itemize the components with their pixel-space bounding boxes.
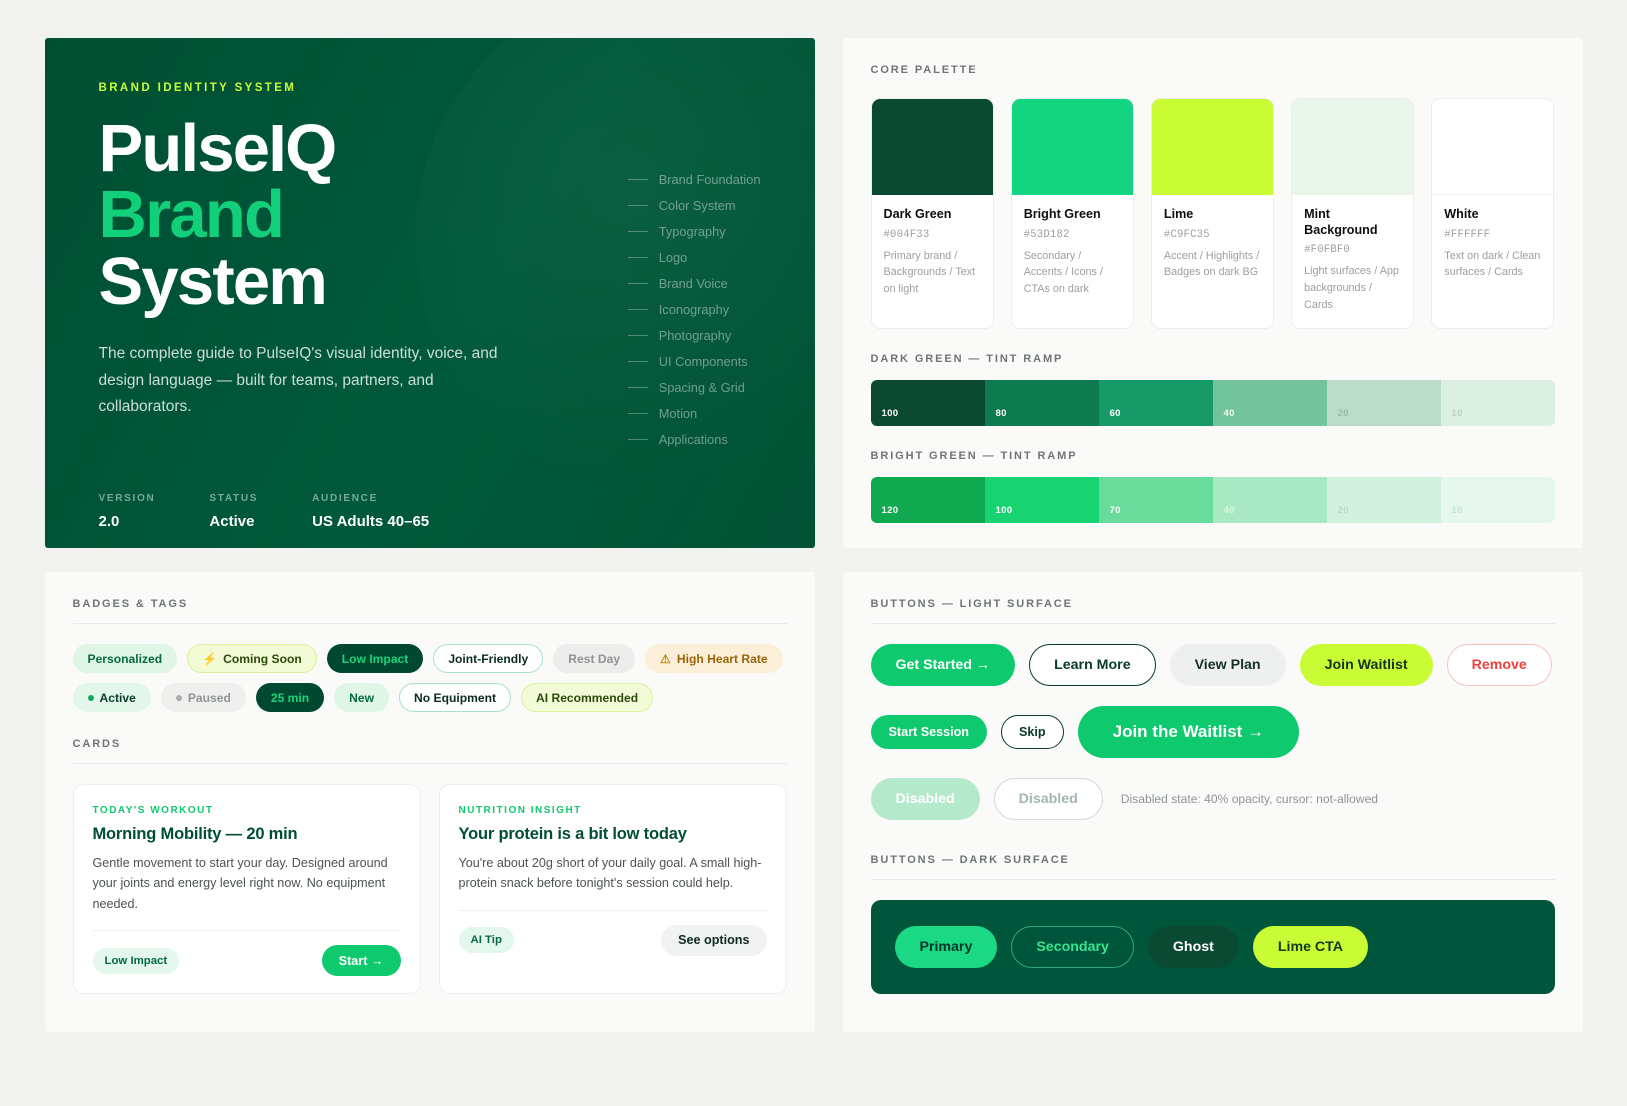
swatch-body: Lime#C9FC35Accent / Highlights / Badges … bbox=[1152, 195, 1273, 295]
color-system-panel: CORE PALETTE Dark Green#004F33Primary br… bbox=[843, 38, 1583, 548]
swatch-hex: #C9FC35 bbox=[1164, 229, 1261, 241]
toc-dash-icon bbox=[628, 335, 648, 336]
status-dot-icon bbox=[176, 695, 182, 701]
table-of-contents: Brand FoundationColor SystemTypographyLo… bbox=[628, 166, 761, 452]
badge-rest-day[interactable]: Rest Day bbox=[553, 644, 635, 673]
card-footer: AI TipSee options bbox=[459, 925, 767, 956]
card-eyebrow: TODAY'S WORKOUT bbox=[93, 805, 401, 816]
meta-audience-label: AUDIENCE bbox=[312, 493, 429, 504]
badge-label: New bbox=[349, 691, 374, 705]
tint-step-label: 80 bbox=[996, 408, 1007, 419]
card-footer: Low ImpactStart → bbox=[93, 945, 401, 976]
buttons-light-divider bbox=[871, 623, 1555, 624]
card-body: Gentle movement to start your day. Desig… bbox=[93, 853, 401, 914]
meta-status-value: Active bbox=[209, 513, 258, 530]
swatch-body: Dark Green#004F33Primary brand / Backgro… bbox=[872, 195, 993, 312]
ui-card-0: TODAY'S WORKOUTMorning Mobility — 20 min… bbox=[73, 784, 421, 994]
bolt-icon: ⚡ bbox=[202, 652, 217, 666]
toc-item-label: Iconography bbox=[659, 302, 729, 317]
badge-paused[interactable]: Paused bbox=[161, 683, 246, 712]
card-grid: TODAY'S WORKOUTMorning Mobility — 20 min… bbox=[73, 784, 787, 994]
toc-dash-icon bbox=[628, 309, 648, 310]
badge-label: AI Recommended bbox=[536, 691, 638, 705]
badge-25-min[interactable]: 25 min bbox=[256, 683, 324, 712]
badge-label: Active bbox=[100, 691, 136, 705]
tint-step-100[interactable]: 100 bbox=[871, 380, 985, 426]
badge-label: No Equipment bbox=[414, 691, 496, 705]
swatch-usage: Light surfaces / App backgrounds / Cards bbox=[1304, 263, 1401, 313]
button-get-started[interactable]: Get Started → bbox=[871, 644, 1016, 686]
button-secondary[interactable]: Secondary bbox=[1011, 926, 1134, 968]
color-swatch-dark-green[interactable]: Dark Green#004F33Primary brand / Backgro… bbox=[871, 98, 994, 329]
toc-item-iconography[interactable]: Iconography bbox=[628, 296, 761, 322]
toc-item-ui-components[interactable]: UI Components bbox=[628, 348, 761, 374]
toc-item-label: Photography bbox=[659, 328, 732, 343]
color-swatch-bright-green[interactable]: Bright Green#53D182Secondary / Accents /… bbox=[1011, 98, 1134, 329]
button-view-plan[interactable]: View Plan bbox=[1170, 644, 1286, 686]
toc-item-label: Brand Foundation bbox=[659, 172, 761, 187]
badge-ai-recommended[interactable]: AI Recommended bbox=[521, 683, 653, 712]
toc-item-motion[interactable]: Motion bbox=[628, 400, 761, 426]
tint-ramp-label: DARK GREEN — TINT RAMP bbox=[871, 353, 1555, 365]
badge-label: Rest Day bbox=[568, 652, 620, 666]
meta-version-label: VERSION bbox=[99, 493, 156, 504]
button-disabled: Disabled bbox=[871, 778, 980, 820]
toc-item-label: Motion bbox=[659, 406, 697, 421]
button-disabled: Disabled bbox=[994, 778, 1103, 820]
swatch-usage: Primary brand / Backgrounds / Text on li… bbox=[884, 248, 981, 298]
buttons-row-disabled: DisabledDisabled Disabled state: 40% opa… bbox=[871, 778, 1555, 820]
button-learn-more[interactable]: Learn More bbox=[1029, 644, 1155, 686]
button-join-waitlist[interactable]: Join Waitlist bbox=[1300, 644, 1433, 686]
card-cta-button[interactable]: See options bbox=[661, 925, 766, 956]
toc-dash-icon bbox=[628, 257, 648, 258]
swatch-chip bbox=[872, 99, 993, 195]
tint-step-label: 40 bbox=[1224, 408, 1235, 419]
hero-meta: VERSION 2.0 STATUS Active AUDIENCE US Ad… bbox=[99, 493, 763, 530]
buttons-row-sizes: Start SessionSkipJoin the Waitlist → bbox=[871, 706, 1555, 758]
swatch-chip bbox=[1012, 99, 1133, 195]
hero-subtitle: The complete guide to PulseIQ's visual i… bbox=[99, 341, 509, 421]
tint-step-10[interactable]: 10 bbox=[1441, 380, 1555, 426]
tint-step-10[interactable]: 10 bbox=[1441, 477, 1555, 523]
meta-status-label: STATUS bbox=[209, 493, 258, 504]
toc-item-label: Brand Voice bbox=[659, 276, 728, 291]
swatch-body: Bright Green#53D182Secondary / Accents /… bbox=[1012, 195, 1133, 312]
swatch-body: White#FFFFFFText on dark / Clean surface… bbox=[1432, 195, 1553, 295]
badge-high-heart-rate[interactable]: ⚠High Heart Rate bbox=[645, 644, 783, 673]
badge-active[interactable]: Active bbox=[73, 683, 151, 712]
card-title: Your protein is a bit low today bbox=[459, 825, 767, 844]
meta-status: STATUS Active bbox=[209, 493, 258, 530]
buttons-dark-divider bbox=[871, 879, 1555, 880]
tint-step-60[interactable]: 60 bbox=[1099, 380, 1213, 426]
buttons-row-primary: Get Started →Learn MoreView PlanJoin Wai… bbox=[871, 644, 1555, 686]
badges-divider bbox=[73, 623, 787, 624]
badge-list: Personalized⚡Coming SoonLow ImpactJoint-… bbox=[73, 644, 787, 712]
toc-item-brand-foundation[interactable]: Brand Foundation bbox=[628, 166, 761, 192]
button-start-session[interactable]: Start Session bbox=[871, 715, 988, 749]
button-skip[interactable]: Skip bbox=[1001, 715, 1064, 749]
toc-item-color-system[interactable]: Color System bbox=[628, 192, 761, 218]
swatch-name: White bbox=[1444, 207, 1541, 223]
color-swatch-lime[interactable]: Lime#C9FC35Accent / Highlights / Badges … bbox=[1151, 98, 1274, 329]
disabled-note: Disabled state: 40% opacity, cursor: not… bbox=[1121, 792, 1378, 806]
swatch-body: Mint Background#F0FBF0Light surfaces / A… bbox=[1292, 195, 1413, 328]
meta-audience: AUDIENCE US Adults 40–65 bbox=[312, 493, 429, 530]
button-ghost[interactable]: Ghost bbox=[1148, 926, 1239, 968]
badge-label: Paused bbox=[188, 691, 231, 705]
button-lime-cta[interactable]: Lime CTA bbox=[1253, 926, 1368, 968]
button-join-the-waitlist[interactable]: Join the Waitlist → bbox=[1078, 706, 1299, 758]
color-swatch-mint-background[interactable]: Mint Background#F0FBF0Light surfaces / A… bbox=[1291, 98, 1414, 329]
ui-card-1: NUTRITION INSIGHTYour protein is a bit l… bbox=[439, 784, 787, 994]
buttons-dark-label: BUTTONS — DARK SURFACE bbox=[871, 854, 1555, 866]
meta-version-value: 2.0 bbox=[99, 513, 156, 530]
tint-step-80[interactable]: 80 bbox=[985, 380, 1099, 426]
toc-item-label: Typography bbox=[659, 224, 726, 239]
tint-step-20[interactable]: 20 bbox=[1327, 477, 1441, 523]
toc-dash-icon bbox=[628, 231, 648, 232]
toc-item-brand-voice[interactable]: Brand Voice bbox=[628, 270, 761, 296]
swatch-hex: #F0FBF0 bbox=[1304, 244, 1401, 256]
toc-dash-icon bbox=[628, 205, 648, 206]
badge-no-equipment[interactable]: No Equipment bbox=[399, 683, 511, 712]
toc-dash-icon bbox=[628, 361, 648, 362]
toc-item-label: UI Components bbox=[659, 354, 748, 369]
tint-step-70[interactable]: 70 bbox=[1099, 477, 1213, 523]
toc-dash-icon bbox=[628, 413, 648, 414]
tint-step-40[interactable]: 40 bbox=[1213, 477, 1327, 523]
tint-step-label: 10 bbox=[1452, 505, 1463, 516]
toc-dash-icon bbox=[628, 179, 648, 180]
badge-label: Joint-Friendly bbox=[448, 652, 528, 666]
card-divider bbox=[459, 910, 767, 911]
buttons-panel: BUTTONS — LIGHT SURFACE Get Started →Lea… bbox=[843, 572, 1583, 1032]
hero-eyebrow: BRAND IDENTITY SYSTEM bbox=[99, 82, 763, 94]
toc-item-spacing-grid[interactable]: Spacing & Grid bbox=[628, 374, 761, 400]
badge-new[interactable]: New bbox=[334, 683, 389, 712]
cards-divider bbox=[73, 763, 787, 764]
tint-step-label: 20 bbox=[1338, 408, 1349, 419]
swatch-hex: #004F33 bbox=[884, 229, 981, 241]
toc-item-label: Logo bbox=[659, 250, 687, 265]
brand-system-page: BRAND IDENTITY SYSTEM PulseIQ Brand Syst… bbox=[0, 0, 1627, 1106]
dark-surface-area: PrimarySecondaryGhostLime CTA bbox=[871, 900, 1555, 994]
swatch-name: Dark Green bbox=[884, 207, 981, 223]
badge-coming-soon[interactable]: ⚡Coming Soon bbox=[187, 644, 317, 673]
button-primary[interactable]: Primary bbox=[895, 926, 998, 968]
badge-label: Personalized bbox=[88, 652, 163, 666]
card-body: You're about 20g short of your daily goa… bbox=[459, 853, 767, 894]
swatch-chip bbox=[1432, 99, 1553, 195]
warning-icon: ⚠ bbox=[660, 652, 671, 666]
swatch-name: Bright Green bbox=[1024, 207, 1121, 223]
badge-label: Coming Soon bbox=[223, 652, 302, 666]
tint-step-label: 70 bbox=[1110, 505, 1121, 516]
toc-dash-icon bbox=[628, 283, 648, 284]
card-eyebrow: NUTRITION INSIGHT bbox=[459, 805, 767, 816]
toc-item-label: Color System bbox=[659, 198, 736, 213]
card-cta-button[interactable]: Start → bbox=[322, 945, 401, 976]
toc-item-photography[interactable]: Photography bbox=[628, 322, 761, 348]
swatch-usage: Text on dark / Clean surfaces / Cards bbox=[1444, 248, 1541, 281]
color-swatch-white[interactable]: White#FFFFFFText on dark / Clean surface… bbox=[1431, 98, 1554, 329]
tint-ramp-strip: 1008060402010 bbox=[871, 380, 1555, 426]
status-dot-icon bbox=[88, 695, 94, 701]
swatch-hex: #53D182 bbox=[1024, 229, 1121, 241]
badges-label: BADGES & TAGS bbox=[73, 598, 787, 610]
button-remove[interactable]: Remove bbox=[1447, 644, 1552, 686]
swatch-name: Lime bbox=[1164, 207, 1261, 223]
card-tag[interactable]: AI Tip bbox=[459, 927, 514, 953]
tint-step-label: 20 bbox=[1338, 505, 1349, 516]
core-palette-label: CORE PALETTE bbox=[871, 64, 1555, 76]
badge-joint-friendly[interactable]: Joint-Friendly bbox=[433, 644, 543, 673]
toc-item-label: Spacing & Grid bbox=[659, 380, 745, 395]
tint-step-label: 10 bbox=[1452, 408, 1463, 419]
tint-ramp-block-1: BRIGHT GREEN — TINT RAMP12010070402010 bbox=[871, 450, 1555, 523]
toc-dash-icon bbox=[628, 439, 648, 440]
swatch-hex: #FFFFFF bbox=[1444, 229, 1541, 241]
swatch-grid: Dark Green#004F33Primary brand / Backgro… bbox=[871, 98, 1555, 329]
meta-version: VERSION 2.0 bbox=[99, 493, 156, 530]
card-title: Morning Mobility — 20 min bbox=[93, 825, 401, 844]
toc-item-applications[interactable]: Applications bbox=[628, 426, 761, 452]
badge-label: High Heart Rate bbox=[677, 652, 768, 666]
meta-audience-value: US Adults 40–65 bbox=[312, 513, 429, 530]
buttons-light-label: BUTTONS — LIGHT SURFACE bbox=[871, 598, 1555, 610]
tint-step-label: 100 bbox=[882, 408, 899, 419]
tint-step-40[interactable]: 40 bbox=[1213, 380, 1327, 426]
swatch-chip bbox=[1152, 99, 1273, 195]
swatch-usage: Accent / Highlights / Badges on dark BG bbox=[1164, 248, 1261, 281]
toc-item-logo[interactable]: Logo bbox=[628, 244, 761, 270]
badge-personalized[interactable]: Personalized bbox=[73, 644, 178, 673]
tint-ramp-label: BRIGHT GREEN — TINT RAMP bbox=[871, 450, 1555, 462]
tint-step-label: 60 bbox=[1110, 408, 1121, 419]
tint-ramps: DARK GREEN — TINT RAMP1008060402010BRIGH… bbox=[871, 353, 1555, 523]
cards-label: CARDS bbox=[73, 738, 787, 750]
card-tag[interactable]: Low Impact bbox=[93, 948, 180, 974]
tint-step-label: 100 bbox=[996, 505, 1013, 516]
tint-ramp-strip: 12010070402010 bbox=[871, 477, 1555, 523]
tint-step-label: 120 bbox=[882, 505, 899, 516]
tint-step-label: 40 bbox=[1224, 505, 1235, 516]
card-divider bbox=[93, 930, 401, 931]
hero-panel: BRAND IDENTITY SYSTEM PulseIQ Brand Syst… bbox=[45, 38, 815, 548]
badge-low-impact[interactable]: Low Impact bbox=[327, 644, 424, 673]
tint-step-100[interactable]: 100 bbox=[985, 477, 1099, 523]
toc-dash-icon bbox=[628, 387, 648, 388]
badge-label: 25 min bbox=[271, 691, 309, 705]
swatch-usage: Secondary / Accents / Icons / CTAs on da… bbox=[1024, 248, 1121, 298]
badge-label: Low Impact bbox=[342, 652, 409, 666]
tint-step-20[interactable]: 20 bbox=[1327, 380, 1441, 426]
badges-cards-panel: BADGES & TAGS Personalized⚡Coming SoonLo… bbox=[45, 572, 815, 1032]
swatch-chip bbox=[1292, 99, 1413, 195]
toc-item-label: Applications bbox=[659, 432, 728, 447]
tint-step-120[interactable]: 120 bbox=[871, 477, 985, 523]
swatch-name: Mint Background bbox=[1304, 207, 1401, 238]
tint-ramp-block-0: DARK GREEN — TINT RAMP1008060402010 bbox=[871, 353, 1555, 426]
toc-item-typography[interactable]: Typography bbox=[628, 218, 761, 244]
